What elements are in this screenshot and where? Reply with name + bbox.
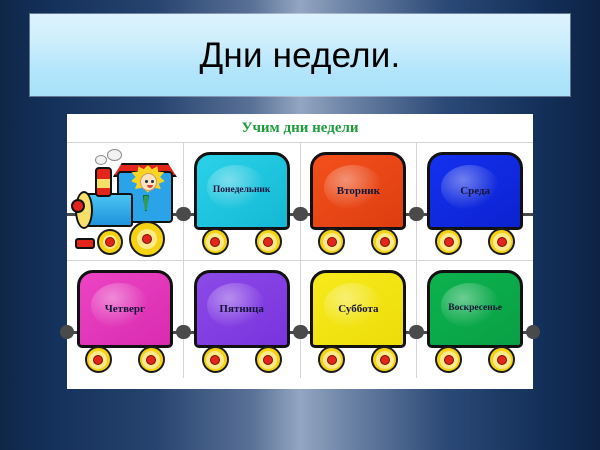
- train-picture-panel: Учим дни недели: [67, 114, 533, 389]
- page-title: Дни недели.: [200, 38, 401, 73]
- wagon-body: Суббота: [310, 270, 406, 348]
- train-cell-saturday[interactable]: Суббота: [301, 261, 418, 378]
- wagon-body: Понедельник: [194, 152, 290, 230]
- locomotive-wheel: [97, 229, 123, 255]
- wagon-wheel: [318, 346, 345, 373]
- wagon-tuesday: Вторник: [310, 152, 406, 256]
- slide-canvas: Дни недели. Учим дни недели: [0, 0, 600, 450]
- wagon-body: Четверг: [77, 270, 173, 348]
- wagon-wheel: [85, 346, 112, 373]
- wagon-wheel: [318, 228, 345, 255]
- coupling-knob: [177, 325, 191, 339]
- driver-face: [140, 173, 157, 191]
- train-cell-tuesday[interactable]: Вторник: [301, 143, 418, 260]
- wagon-wheel: [255, 228, 282, 255]
- wagon-wheel: [435, 228, 462, 255]
- locomotive-wheel: [129, 221, 165, 257]
- wagon-body: Пятница: [194, 270, 290, 348]
- driver-eye: [151, 180, 154, 183]
- wagon-label: Пятница: [217, 304, 265, 315]
- driver-eye: [145, 180, 148, 183]
- picture-heading: Учим дни недели: [67, 114, 533, 143]
- wagon-wednesday: Среда: [427, 152, 523, 256]
- train-cell-sunday[interactable]: Воскресенье: [417, 261, 533, 378]
- wagon-wheel: [202, 346, 229, 373]
- wagon-label: Среда: [458, 186, 492, 197]
- coupling-knob: [60, 325, 74, 339]
- locomotive-step: [75, 238, 95, 249]
- wagon-body: Вторник: [310, 152, 406, 230]
- wagon-body: Воскресенье: [427, 270, 523, 348]
- wagon-monday: Понедельник: [194, 152, 290, 256]
- coupling-knob: [177, 207, 191, 221]
- driver-mouth: [147, 185, 153, 188]
- wagon-label: Воскресенье: [446, 304, 504, 314]
- train-cell-wednesday[interactable]: Среда: [417, 143, 533, 260]
- title-banner: Дни недели.: [30, 14, 570, 96]
- wagon-wheel: [435, 346, 462, 373]
- wagon-sunday: Воскресенье: [427, 270, 523, 374]
- wagon-label: Суббота: [336, 304, 380, 315]
- smoke-puff-icon: [95, 155, 107, 165]
- coupling-knob: [410, 325, 424, 339]
- train-row-top: Понедельник Вторник: [67, 143, 533, 261]
- wagon-wheel: [138, 346, 165, 373]
- train-row-bottom: Четверг Пятница: [67, 261, 533, 378]
- wagon-wheel: [255, 346, 282, 373]
- train-cell-locomotive[interactable]: [67, 143, 184, 260]
- coupling-knob: [526, 325, 540, 339]
- wagon-label: Вторник: [335, 186, 382, 197]
- locomotive-graphic: [73, 147, 177, 257]
- train-cell-monday[interactable]: Понедельник: [184, 143, 301, 260]
- locomotive-buffer: [71, 199, 85, 213]
- wagon-wheel: [488, 346, 515, 373]
- locomotive-chimney: [95, 167, 112, 197]
- train-cell-thursday[interactable]: Четверг: [67, 261, 184, 378]
- train-cell-friday[interactable]: Пятница: [184, 261, 301, 378]
- wagon-wheel: [371, 346, 398, 373]
- picture-heading-text: Учим дни недели: [241, 120, 358, 137]
- wagon-label: Четверг: [103, 304, 147, 315]
- wagon-friday: Пятница: [194, 270, 290, 374]
- wagon-wheel: [488, 228, 515, 255]
- wagon-wheel: [371, 228, 398, 255]
- wagon-saturday: Суббота: [310, 270, 406, 374]
- wagon-thursday: Четверг: [77, 270, 173, 374]
- coupling-knob: [410, 207, 424, 221]
- smoke-puff-icon: [107, 149, 122, 161]
- coupling-knob: [294, 207, 308, 221]
- wagon-label: Понедельник: [211, 186, 273, 196]
- coupling-knob: [294, 325, 308, 339]
- wagon-body: Среда: [427, 152, 523, 230]
- wagon-wheel: [202, 228, 229, 255]
